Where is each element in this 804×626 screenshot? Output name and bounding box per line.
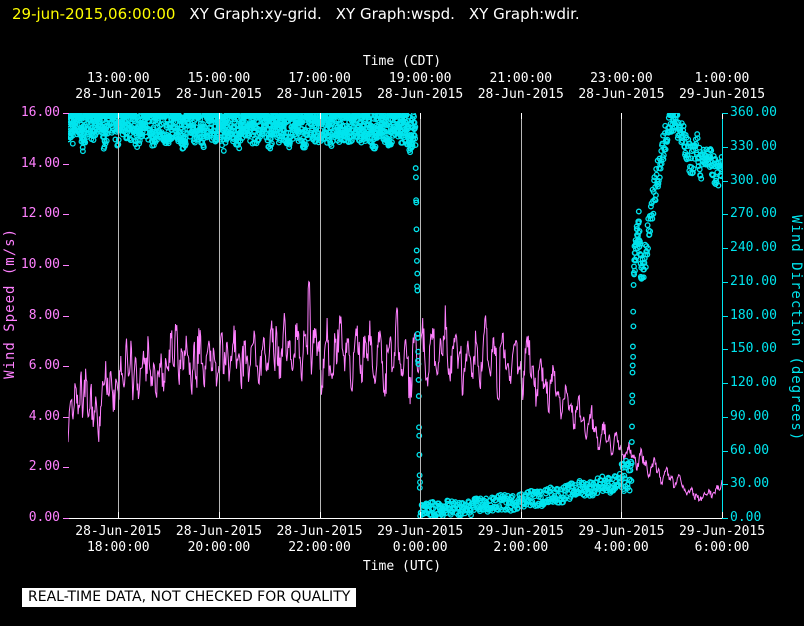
y-tick-left <box>63 265 69 266</box>
y-tick-right <box>722 383 728 384</box>
x-axis-title-top: Time (CDT) <box>0 54 804 69</box>
x-tick-top <box>621 113 622 119</box>
y-label-right: 300.00 <box>730 173 794 188</box>
y-tick-right <box>722 214 728 215</box>
y-tick-right <box>722 451 728 452</box>
gridline-vertical <box>219 113 220 518</box>
x-label-bottom-time: 6:00:00 <box>662 540 782 555</box>
y-tick-left <box>63 467 69 468</box>
y-tick-right <box>722 518 728 519</box>
y-label-right: 30.00 <box>730 476 794 491</box>
trace-label-0: XY Graph:xy-grid. <box>175 5 321 23</box>
x-tick-bottom <box>219 512 220 518</box>
y-tick-right <box>722 113 728 114</box>
y-axis-title-right: Wind Direction (degrees) <box>786 215 804 441</box>
y-label-right: 60.00 <box>730 443 794 458</box>
x-tick-bottom <box>320 512 321 518</box>
gridline-vertical <box>621 113 622 518</box>
y-axis-title-left: Wind Speed (m/s) <box>2 228 20 379</box>
y-tick-right <box>722 349 728 350</box>
gridline-vertical <box>320 113 321 518</box>
y-tick-left <box>63 518 69 519</box>
y-label-right: 150.00 <box>730 341 794 356</box>
y-label-left: 0.00 <box>0 510 60 525</box>
x-tick-top <box>219 113 220 119</box>
y-label-right: 270.00 <box>730 206 794 221</box>
series-canvas <box>68 113 722 518</box>
plot-area <box>68 113 722 518</box>
x-axis-title-bottom: Time (UTC) <box>0 559 804 574</box>
x-label-top-time: 1:00:00 <box>662 71 782 86</box>
y-label-left: 4.00 <box>0 409 60 424</box>
wind-graph-window: 29-jun-2015,06:00:00 XY Graph:xy-grid.XY… <box>0 0 804 626</box>
y-tick-right <box>722 484 728 485</box>
y-label-left: 2.00 <box>0 459 60 474</box>
y-tick-right <box>722 147 728 148</box>
y-tick-right <box>722 181 728 182</box>
x-tick-top <box>118 113 119 119</box>
x-tick-top <box>420 113 421 119</box>
y-tick-right <box>722 417 728 418</box>
y-label-left: 16.00 <box>0 105 60 120</box>
plot-frame-bottom <box>68 518 723 519</box>
y-label-right: 90.00 <box>730 409 794 424</box>
x-tick-bottom <box>521 512 522 518</box>
y-tick-left <box>63 316 69 317</box>
y-label-right: 360.00 <box>730 105 794 120</box>
title-bar: 29-jun-2015,06:00:00 XY Graph:xy-grid.XY… <box>0 0 804 28</box>
y-label-left: 14.00 <box>0 156 60 171</box>
y-label-left: 12.00 <box>0 206 60 221</box>
y-tick-right <box>722 282 728 283</box>
y-tick-left <box>63 113 69 114</box>
y-tick-left <box>63 366 69 367</box>
y-label-right: 210.00 <box>730 274 794 289</box>
gridline-vertical <box>118 113 119 518</box>
x-tick-bottom <box>621 512 622 518</box>
trace-label-1: XY Graph:wspd. <box>322 5 455 23</box>
gridline-vertical <box>521 113 522 518</box>
y-tick-left <box>63 214 69 215</box>
x-label-bottom-date: 29-Jun-2015 <box>662 524 782 539</box>
y-label-right: 240.00 <box>730 240 794 255</box>
gridline-vertical <box>420 113 421 518</box>
trace-label-2: XY Graph:wdir. <box>455 5 580 23</box>
x-label-top-date: 29-Jun-2015 <box>662 87 782 102</box>
quality-disclaimer-banner: REAL-TIME DATA, NOT CHECKED FOR QUALITY <box>22 588 356 607</box>
y-label-right: 0.00 <box>730 510 794 525</box>
y-tick-right <box>722 248 728 249</box>
x-tick-bottom <box>118 512 119 518</box>
wind-speed-line <box>68 282 722 501</box>
y-label-right: 330.00 <box>730 139 794 154</box>
x-tick-top <box>521 113 522 119</box>
timestamp-label: 29-jun-2015,06:00:00 <box>0 5 175 23</box>
y-tick-left <box>63 417 69 418</box>
y-tick-right <box>722 316 728 317</box>
y-tick-left <box>63 164 69 165</box>
x-tick-top <box>320 113 321 119</box>
y-label-right: 180.00 <box>730 308 794 323</box>
x-tick-bottom <box>420 512 421 518</box>
y-label-right: 120.00 <box>730 375 794 390</box>
